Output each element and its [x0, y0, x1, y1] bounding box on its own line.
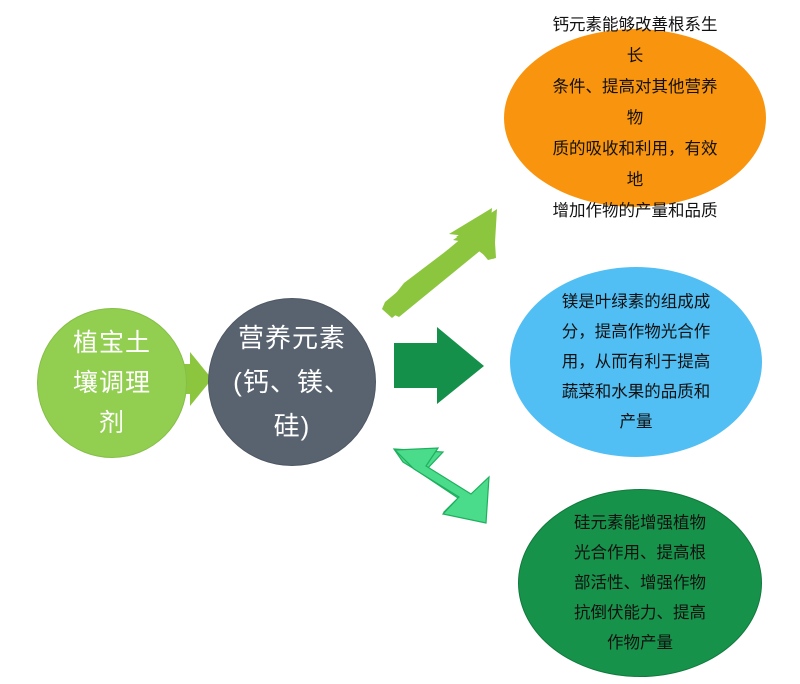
node-magnesium-benefit[interactable]: 镁是叶绿素的组成成 分，提高作物光合作 用，从而有利于提高 蔬菜和水果的品质和 … — [510, 267, 762, 457]
node-nutrient-elements-label: 营养元素 (钙、镁、 硅) — [209, 316, 375, 448]
node-calcium-benefit[interactable]: 钙元素能够改善根系生长 条件、提高对其他营养物 质的吸收和利用，有效地 增加作物… — [504, 29, 766, 207]
node-soil-conditioner[interactable]: 植宝土 壤调理 剂 — [37, 308, 187, 458]
node-magnesium-benefit-label: 镁是叶绿素的组成成 分，提高作物光合作 用，从而有利于提高 蔬菜和水果的品质和 … — [510, 287, 762, 437]
arrow-nutrients-to-silicon — [394, 448, 489, 523]
arrow-nutrients-to-calcium — [382, 208, 497, 318]
diagram-canvas: 植宝土 壤调理 剂 营养元素 (钙、镁、 硅) 钙元素能够改善根系生长 条件、提… — [0, 0, 800, 684]
node-silicon-benefit-label: 硅元素能增强植物 光合作用、提高根 部活性、增强作物 抗倒伏能力、提高 作物产量 — [519, 508, 761, 658]
node-nutrient-elements[interactable]: 营养元素 (钙、镁、 硅) — [208, 298, 376, 466]
node-calcium-benefit-label: 钙元素能够改善根系生长 条件、提高对其他营养物 质的吸收和利用，有效地 增加作物… — [504, 10, 766, 227]
node-silicon-benefit[interactable]: 硅元素能增强植物 光合作用、提高根 部活性、增强作物 抗倒伏能力、提高 作物产量 — [518, 489, 762, 677]
node-soil-conditioner-label: 植宝土 壤调理 剂 — [38, 323, 186, 443]
arrow-nutrients-to-magnesium — [394, 327, 484, 404]
